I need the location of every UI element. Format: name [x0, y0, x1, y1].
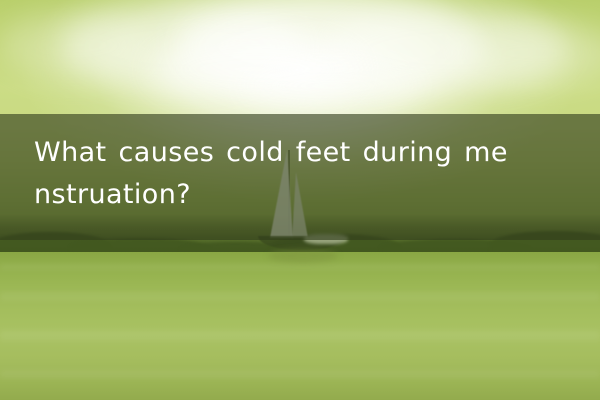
water-highlight [0, 330, 600, 341]
water-highlight [0, 292, 600, 301]
cloud-shape [240, 62, 420, 110]
screenshot-canvas: What causes cold feet during me nstruati… [0, 0, 600, 400]
cloud-shape [0, 10, 150, 80]
water-highlight [0, 264, 600, 270]
boat-reflection [268, 249, 338, 263]
caption-overlay: What causes cold feet during me nstruati… [0, 114, 600, 240]
water-highlight [0, 370, 600, 378]
caption-text: What causes cold feet during me nstruati… [34, 132, 566, 216]
water-region [0, 252, 600, 400]
